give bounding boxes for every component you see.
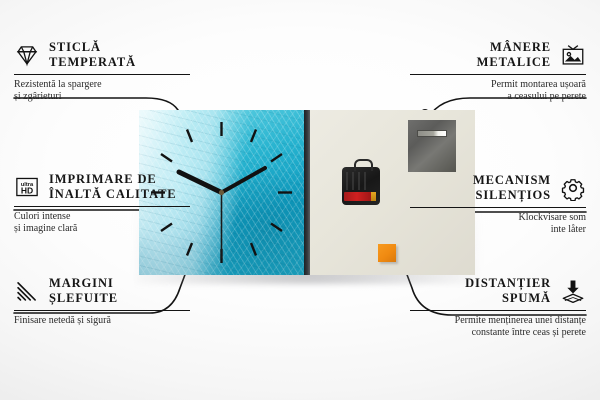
gear-icon <box>560 175 586 201</box>
mechanism-hanging-loop <box>354 159 373 171</box>
callout-divider <box>14 74 190 75</box>
callout-high-quality-print: ultra HD IMPRIMARE DE ÎNALTĂ CALITATE Cu… <box>14 172 190 235</box>
foam-spacer-icon <box>560 278 586 304</box>
callout-header: MARGINI ȘLEFUITE <box>14 276 190 306</box>
polished-edge-icon <box>14 278 40 304</box>
callout-divider <box>410 207 586 208</box>
callout-subtitle: Klockvisare som inte låter <box>410 212 586 236</box>
callout-divider <box>410 310 586 311</box>
callout-subtitle: Rezistentă la spargere și zgârieturi <box>14 79 190 103</box>
callout-subtitle: Permite menținerea unei distanțe constan… <box>410 315 586 339</box>
battery <box>344 192 376 201</box>
clock-center-cap <box>219 190 224 195</box>
callout-title: MÂNERE METALICE <box>477 40 551 70</box>
clock-minute-hand <box>222 168 266 193</box>
callout-header: MECANISM SILENȚIOS <box>410 173 586 203</box>
mechanism-surface-detail <box>346 172 370 190</box>
callout-title: IMPRIMARE DE ÎNALTĂ CALITATE <box>49 172 177 202</box>
callout-divider <box>14 206 190 207</box>
picture-hanger-icon <box>560 42 586 68</box>
callout-metal-handles: MÂNERE METALICE Permit montarea ușoară a… <box>410 40 586 103</box>
callout-title: MARGINI ȘLEFUITE <box>49 276 118 306</box>
callout-subtitle: Finisare netedă și sigură <box>14 315 190 327</box>
battery-terminal <box>371 192 376 201</box>
hanger-slot <box>417 130 447 137</box>
callout-silent-mechanism: MECANISM SILENȚIOS Klockvisare som inte … <box>410 173 586 236</box>
callout-subtitle: Permit montarea ușoară a ceasului pe per… <box>410 79 586 103</box>
foam-spacer-pad <box>378 244 396 262</box>
svg-text:HD: HD <box>21 186 33 196</box>
callout-polished-edges: MARGINI ȘLEFUITE Finisare netedă și sigu… <box>14 276 190 327</box>
callout-header: MÂNERE METALICE <box>410 40 586 70</box>
callout-title: STICLĂ TEMPERATĂ <box>49 40 136 70</box>
callout-header: ultra HD IMPRIMARE DE ÎNALTĂ CALITATE <box>14 172 190 202</box>
ultra-hd-icon: ultra HD <box>14 174 40 200</box>
diamond-icon <box>14 42 40 68</box>
infographic-canvas: STICLĂ TEMPERATĂ Rezistentă la spargere … <box>0 0 600 400</box>
callout-header: DISTANȚIER SPUMĂ <box>410 276 586 306</box>
silent-clock-mechanism <box>342 167 380 205</box>
callout-title: DISTANȚIER SPUMĂ <box>465 276 551 306</box>
callout-header: STICLĂ TEMPERATĂ <box>14 40 190 70</box>
callout-foam-spacer: DISTANȚIER SPUMĂ Permite menținerea unei… <box>410 276 586 339</box>
callout-subtitle: Culori intense și imagine clară <box>14 211 190 235</box>
callout-divider <box>410 74 586 75</box>
metal-hanger-plate <box>408 120 456 172</box>
callout-tempered-glass: STICLĂ TEMPERATĂ Rezistentă la spargere … <box>14 40 190 103</box>
callout-divider <box>14 310 190 311</box>
callout-title: MECANISM SILENȚIOS <box>473 173 551 203</box>
